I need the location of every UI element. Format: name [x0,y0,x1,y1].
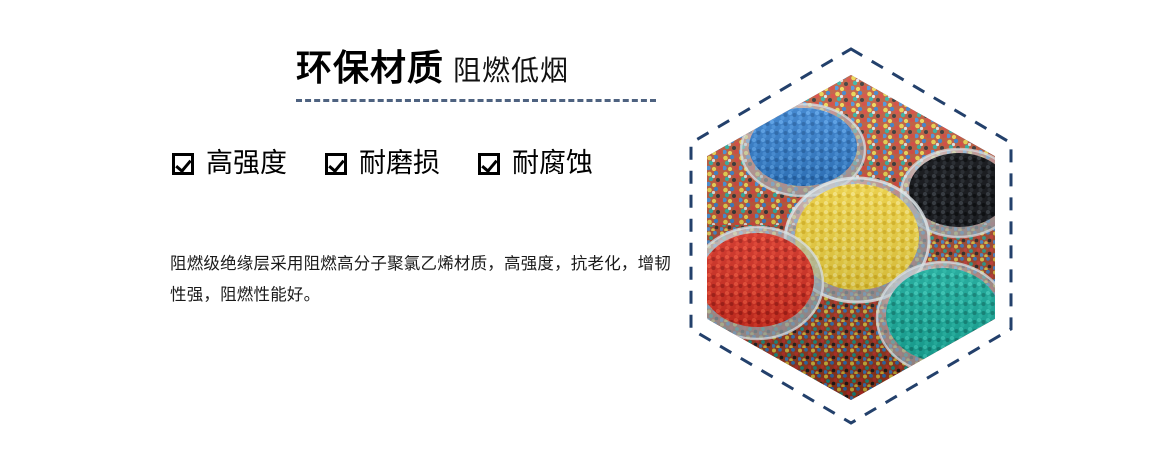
headline-divider [296,99,656,102]
body-description: 阻燃级绝缘层采用阻燃高分子聚氯乙烯材质，高强度，抗老化，增韧性强，阻燃性能好。 [170,249,680,311]
page-subtitle: 阻燃低烟 [453,57,569,85]
feature-item-strength: 高强度 [172,150,287,177]
page-title: 环保材质 [296,50,444,86]
feature-list: 高强度 耐磨损 耐腐蚀 [172,150,593,177]
feature-item-corrosion-resistant: 耐腐蚀 [478,150,593,177]
feature-item-wear-resistant: 耐磨损 [325,150,440,177]
headline-group: 环保材质 阻燃低烟 [296,50,569,86]
feature-label: 高强度 [206,150,287,177]
promo-banner: 环保材质 阻燃低烟 高强度 耐磨损 耐腐蚀 阻燃级绝缘层采用阻燃高分子聚氯乙烯材… [0,0,1169,452]
checkbox-checked-icon [478,153,500,175]
checkbox-checked-icon [325,153,347,175]
hexagon-photo-group [689,47,1013,425]
checkbox-checked-icon [172,153,194,175]
feature-label: 耐磨损 [359,150,440,177]
feature-label: 耐腐蚀 [512,150,593,177]
